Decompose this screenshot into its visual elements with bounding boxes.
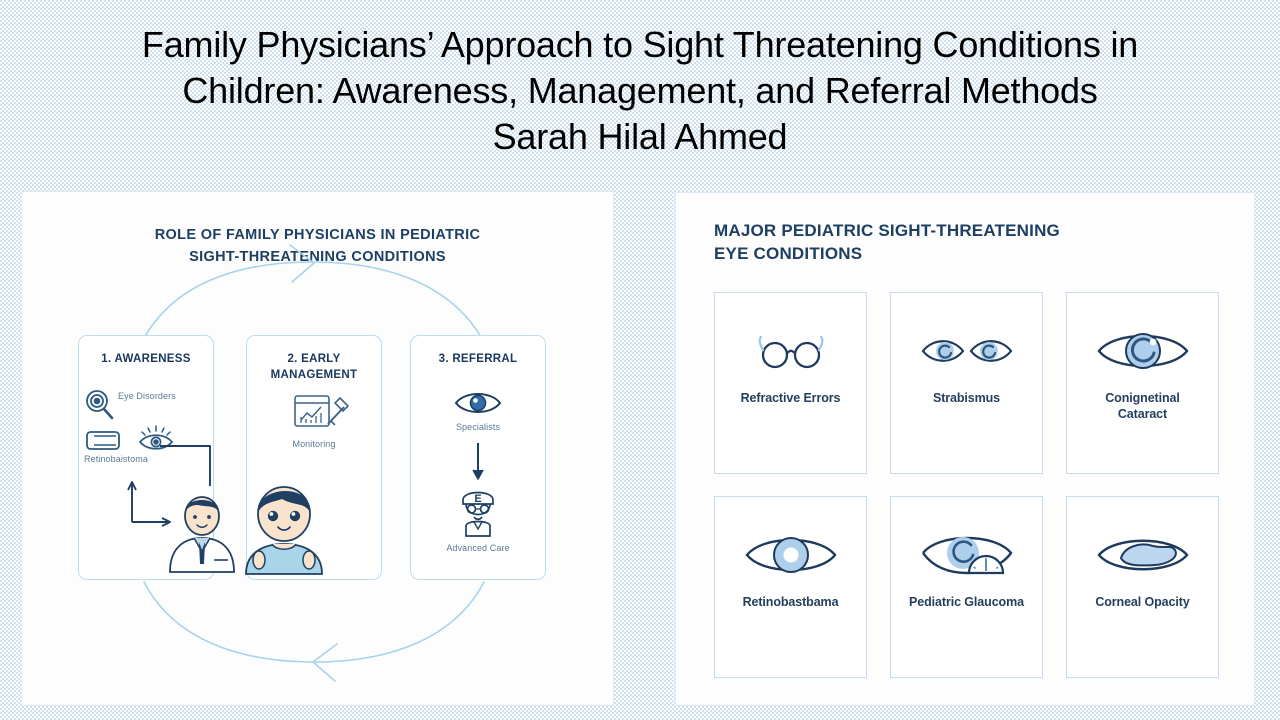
condition-card-congenital-cataract[interactable]: Conignetinal Cataract <box>1066 292 1219 474</box>
chart-syringe-icon <box>290 390 354 438</box>
tumor-eye-icon <box>715 523 866 587</box>
condition-label: Pediatric Glaucoma <box>895 595 1038 611</box>
page-title: Family Physicians’ Approach to Sight Thr… <box>40 22 1240 160</box>
glasses-icon <box>715 319 866 383</box>
step-2-label-monitoring: Monitoring <box>246 439 382 449</box>
cataract-eye-icon <box>1067 319 1218 383</box>
right-panel-title: MAJOR PEDIATRIC SIGHT-THREATENING EYE CO… <box>714 220 1184 266</box>
condition-card-pediatric-glaucoma[interactable]: Pediatric Glaucoma <box>890 496 1043 678</box>
condition-label: Conignetinal Cataract <box>1071 391 1214 422</box>
doctor-eyechart-icon: E <box>452 484 504 540</box>
step-3-heading: 3. REFERRAL <box>411 352 545 368</box>
svg-text:E: E <box>474 493 481 505</box>
condition-label: Corneal Opacity <box>1071 595 1214 611</box>
down-arrow-icon <box>470 441 486 483</box>
step-2-heading: 2. EARLY MANAGEMENT <box>247 352 381 383</box>
condition-card-retinoblastoma[interactable]: Retinobastbama <box>714 496 867 678</box>
child-figure <box>246 487 322 574</box>
condition-card-corneal-opacity[interactable]: Corneal Opacity <box>1066 496 1219 678</box>
two-eyes-icon <box>891 319 1042 383</box>
step-3-label-specialists: Specialists <box>410 422 546 432</box>
step-1-label-eye-disorders: Eye Disorders <box>118 391 176 401</box>
glaucoma-eye-gauge-icon <box>891 523 1042 587</box>
step-1-heading: 1. AWARENESS <box>79 352 213 368</box>
doctor-figure <box>170 497 234 572</box>
magnifier-eye-icon <box>87 391 112 418</box>
doctor-and-child-illustration <box>142 472 362 584</box>
condition-card-refractive-errors[interactable]: Refractive Errors <box>714 292 867 474</box>
condition-label: Retinobastbama <box>719 595 862 611</box>
conditions-panel: MAJOR PEDIATRIC SIGHT-THREATENING EYE CO… <box>676 193 1254 705</box>
corneal-opacity-eye-icon <box>1067 523 1218 587</box>
step-3-label-advanced-care: Advanced Care <box>410 543 546 553</box>
eye-icon <box>452 388 504 418</box>
condition-card-strabismus[interactable]: Strabismus <box>890 292 1043 474</box>
left-infographic-panel: ROLE OF FAMILY PHYSICIANS IN PEDIATRIC S… <box>22 192 613 705</box>
condition-label: Strabismus <box>895 391 1038 407</box>
condition-label: Refractive Errors <box>719 391 862 407</box>
